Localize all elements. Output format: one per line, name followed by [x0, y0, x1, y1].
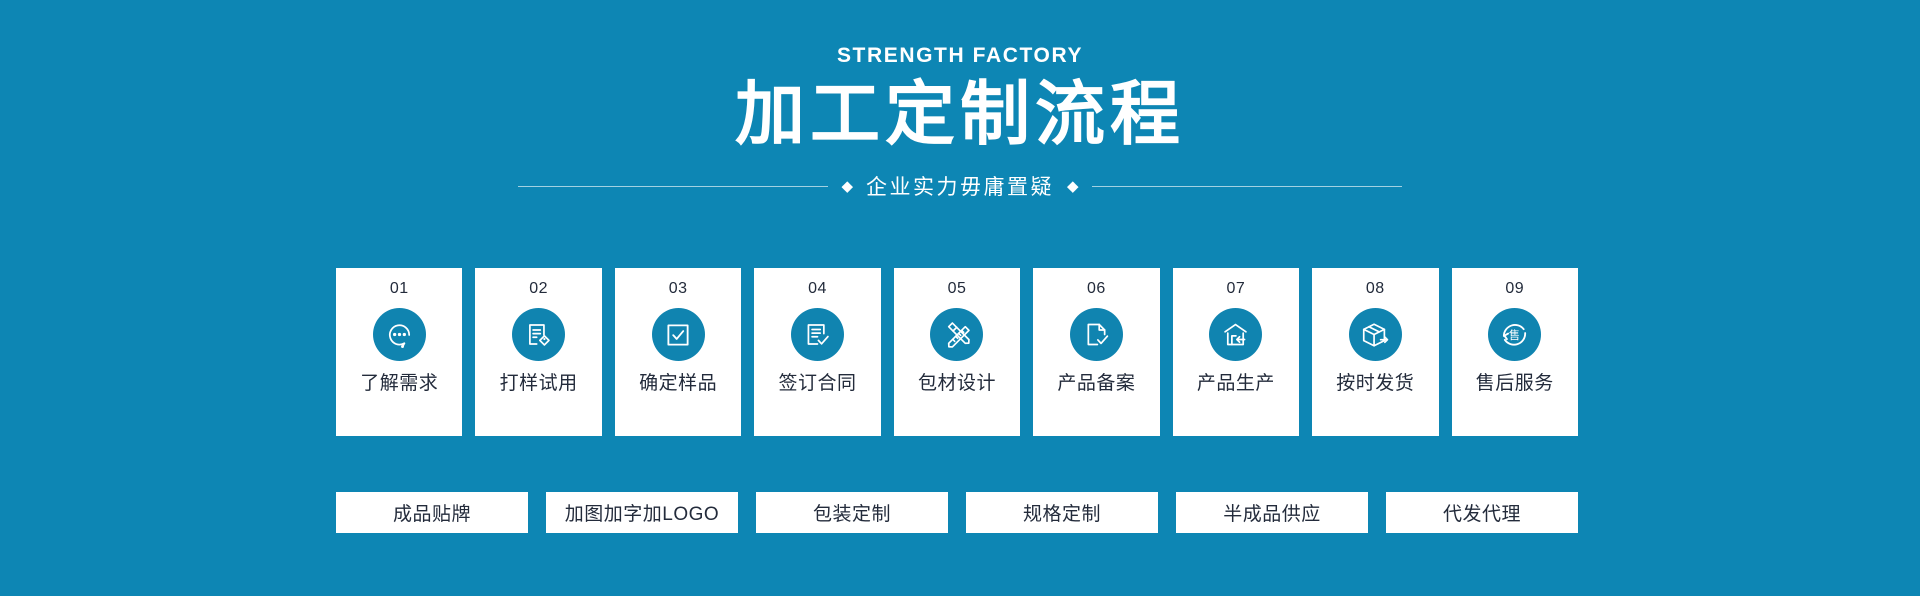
subtitle-divider: ◆ 企业实力毋庸置疑 ◆: [0, 171, 1920, 201]
step-card-06[interactable]: 06 产品备案: [1033, 268, 1159, 436]
page-title: 加工定制流程: [0, 75, 1920, 153]
document-tag-icon: [512, 308, 565, 361]
after-sales-icon: 售: [1488, 308, 1541, 361]
step-number: 01: [390, 281, 409, 297]
file-check-icon: [1070, 308, 1123, 361]
step-number: 08: [1366, 281, 1385, 297]
tag-add-logo[interactable]: 加图加字加LOGO: [546, 492, 738, 533]
step-card-02[interactable]: 02 打样试用: [475, 268, 601, 436]
step-card-09[interactable]: 09 售 售后服务: [1452, 268, 1578, 436]
divider-line-left: [518, 186, 828, 187]
process-steps: 01 了解需求 02: [336, 268, 1578, 436]
step-label: 打样试用: [500, 374, 578, 393]
step-label: 按时发货: [1336, 374, 1414, 393]
step-label: 签订合同: [779, 374, 857, 393]
step-label: 产品备案: [1057, 374, 1135, 393]
checkbox-icon: [652, 308, 705, 361]
step-label: 产品生产: [1197, 374, 1275, 393]
step-card-03[interactable]: 03 确定样品: [615, 268, 741, 436]
process-banner: STRENGTH FACTORY 加工定制流程 ◆ 企业实力毋庸置疑 ◆ 01: [0, 0, 1920, 596]
step-number: 09: [1505, 281, 1524, 297]
tag-packaging-custom[interactable]: 包装定制: [756, 492, 948, 533]
step-label: 包材设计: [918, 374, 996, 393]
step-card-05[interactable]: 05 包材设计: [894, 268, 1020, 436]
step-card-08[interactable]: 08 按时发货: [1312, 268, 1438, 436]
step-card-04[interactable]: 04 签订合同: [754, 268, 880, 436]
step-number: 03: [669, 281, 688, 297]
step-label: 了解需求: [360, 374, 438, 393]
step-number: 04: [808, 281, 827, 297]
step-card-07[interactable]: 07 产品生产: [1173, 268, 1299, 436]
contract-check-icon: [791, 308, 844, 361]
subtitle-text: 企业实力毋庸置疑: [866, 171, 1054, 201]
step-label: 售后服务: [1476, 374, 1554, 393]
diamond-right-icon: ◆: [1054, 179, 1092, 194]
tag-dropshipping[interactable]: 代发代理: [1386, 492, 1578, 533]
eyebrow-text: STRENGTH FACTORY: [0, 44, 1920, 67]
box-arrow-icon: [1349, 308, 1402, 361]
factory-arrow-icon: [1209, 308, 1262, 361]
diamond-left-icon: ◆: [828, 179, 866, 194]
step-number: 02: [529, 281, 548, 297]
step-number: 07: [1226, 281, 1245, 297]
step-label: 确定样品: [639, 374, 717, 393]
service-tags: 成品贴牌 加图加字加LOGO 包装定制 规格定制 半成品供应 代发代理: [336, 492, 1578, 533]
pen-ruler-icon: [930, 308, 983, 361]
step-number: 05: [948, 281, 967, 297]
tag-spec-custom[interactable]: 规格定制: [966, 492, 1158, 533]
chat-bubble-icon: [373, 308, 426, 361]
tag-semi-finished-supply[interactable]: 半成品供应: [1176, 492, 1368, 533]
banner-header: STRENGTH FACTORY 加工定制流程 ◆ 企业实力毋庸置疑 ◆: [0, 0, 1920, 201]
step-number: 06: [1087, 281, 1106, 297]
tag-chengpin-tiepai[interactable]: 成品贴牌: [336, 492, 528, 533]
divider-line-right: [1092, 186, 1402, 187]
step-card-01[interactable]: 01 了解需求: [336, 268, 462, 436]
svg-text:售: 售: [1509, 328, 1520, 342]
